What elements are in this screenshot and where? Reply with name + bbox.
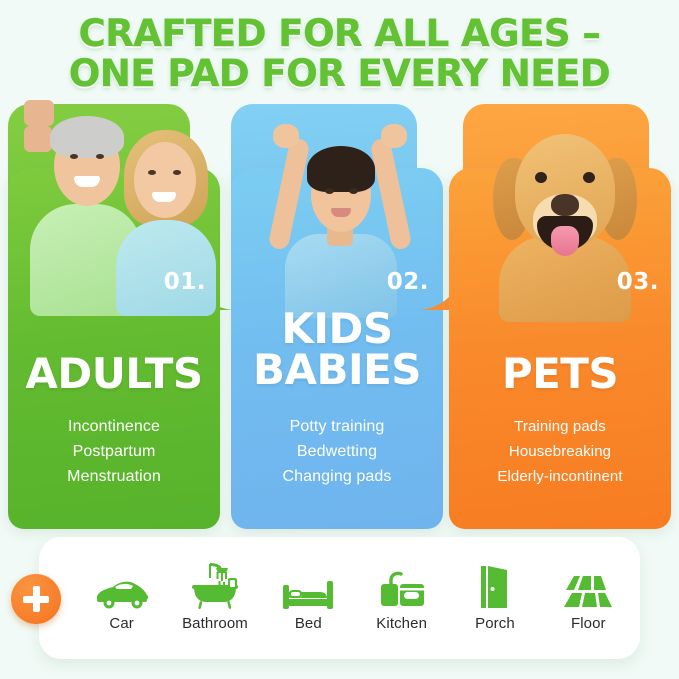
card-list-pets: Training pads Housebreaking Elderly-inco… <box>449 414 671 489</box>
usage-label-porch: Porch <box>475 615 515 632</box>
floor-planks-icon <box>560 560 616 610</box>
card-title-line: PETS <box>449 353 671 394</box>
bed-icon <box>280 560 336 610</box>
card-title-kids: KIDS BABIES <box>231 308 443 390</box>
card-number-adults: 01. <box>164 269 206 295</box>
door-icon <box>475 560 515 610</box>
list-item: Potty training <box>231 414 443 439</box>
card-number-kids: 02. <box>387 269 429 295</box>
list-item: Elderly-incontinent <box>449 464 671 489</box>
audience-card-adults[interactable]: 01. ADULTS Incontinence Postpartum Menst… <box>8 104 220 529</box>
usage-item-floor[interactable]: Floor <box>542 560 635 632</box>
audience-cards: 01. ADULTS Incontinence Postpartum Menst… <box>0 104 679 529</box>
card-title-pets: PETS <box>449 353 671 394</box>
usage-item-car[interactable]: Car <box>75 560 168 632</box>
card-list-adults: Incontinence Postpartum Menstruation <box>8 414 220 489</box>
bathtub-icon <box>188 560 242 610</box>
page-title: CRAFTED FOR ALL AGES – ONE PAD FOR EVERY… <box>0 14 679 94</box>
card-title-line: ADULTS <box>8 353 220 394</box>
kitchen-sink-icon <box>377 560 427 610</box>
list-item: Housebreaking <box>449 439 671 464</box>
card-title-line: BABIES <box>231 349 443 390</box>
list-item: Training pads <box>449 414 671 439</box>
list-item: Postpartum <box>8 439 220 464</box>
headline-line-2: ONE PAD FOR EVERY NEED <box>0 54 679 94</box>
headline-line-1: CRAFTED FOR ALL AGES – <box>0 14 679 54</box>
card-title-adults: ADULTS <box>8 353 220 394</box>
usage-label-bathroom: Bathroom <box>182 615 248 632</box>
list-item: Menstruation <box>8 464 220 489</box>
usage-label-kitchen: Kitchen <box>376 615 427 632</box>
list-item: Bedwetting <box>231 439 443 464</box>
infographic-canvas: CRAFTED FOR ALL AGES – ONE PAD FOR EVERY… <box>0 0 679 679</box>
car-icon <box>93 560 151 610</box>
audience-card-kids-babies[interactable]: 02. KIDS BABIES Potty training Bedwettin… <box>231 104 443 529</box>
usage-item-porch[interactable]: Porch <box>448 560 541 632</box>
plus-icon <box>11 574 61 624</box>
usage-item-kitchen[interactable]: Kitchen <box>355 560 448 632</box>
usage-label-car: Car <box>109 615 133 632</box>
usage-item-bed[interactable]: Bed <box>262 560 355 632</box>
card-list-kids: Potty training Bedwetting Changing pads <box>231 414 443 489</box>
usage-label-bed: Bed <box>295 615 322 632</box>
list-item: Changing pads <box>231 464 443 489</box>
card-number-pets: 03. <box>617 269 659 295</box>
usage-item-bathroom[interactable]: Bathroom <box>168 560 261 632</box>
usage-icon-row: Car <box>75 560 635 642</box>
card-title-line: KIDS <box>231 308 443 349</box>
audience-card-pets[interactable]: 03. PETS Training pads Housebreaking Eld… <box>449 104 671 529</box>
list-item: Incontinence <box>8 414 220 439</box>
usage-label-floor: Floor <box>571 615 606 632</box>
